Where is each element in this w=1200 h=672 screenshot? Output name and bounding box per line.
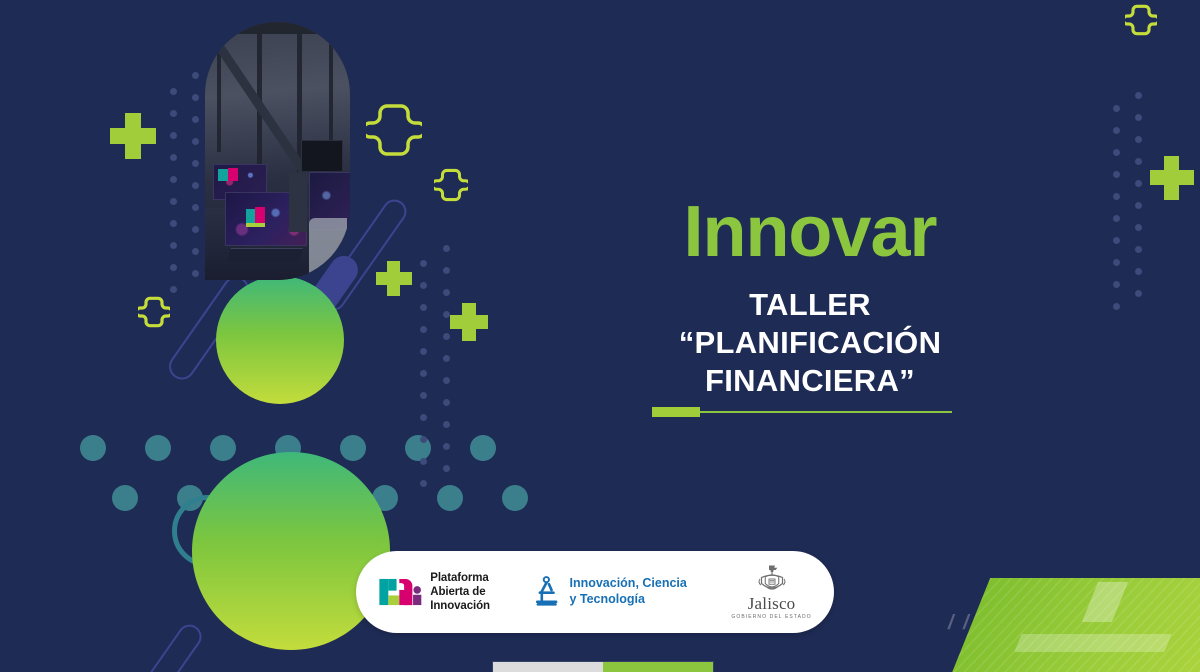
coat-of-arms-icon [755, 564, 789, 594]
corner-graphic: / / / [940, 564, 1200, 672]
slide-canvas: Innovar TALLER “PLANIFICACIÓN FINANCIERA… [0, 0, 1200, 672]
plus-icon-outline-large [366, 102, 422, 158]
page-title: Innovar [600, 196, 1020, 268]
photo-chair [309, 218, 347, 280]
corner-bar-lower [1014, 634, 1171, 652]
plus-icon-filled-center-a [376, 272, 412, 285]
photo-keyboard [227, 248, 303, 262]
icyt-logo-text: Innovación, Ciencia y Tecnología [569, 576, 686, 607]
logo-bar: Plataforma Abierta de Innovación Innovac… [356, 551, 834, 633]
dot-column-left-b [192, 72, 199, 292]
pai-logo-text: Plataforma Abierta de Innovación [430, 571, 490, 613]
page-subtitle: TALLER “PLANIFICACIÓN FINANCIERA” [600, 286, 1020, 399]
diagonal-pill-outline-c [118, 620, 206, 672]
pai-logo-icon [378, 576, 422, 608]
corner-stripes [950, 578, 1200, 672]
plus-icon-filled-center-b [450, 315, 488, 329]
plus-icon-filled-right [1150, 170, 1194, 185]
progress-segment-right [603, 662, 713, 672]
plus-icon-outline-top-right [1125, 4, 1157, 36]
photo-monitor-back [301, 140, 343, 172]
dot-column-center-b [443, 245, 450, 487]
corner-parallelogram [950, 578, 1200, 672]
subtitle-line-3: FINANCIERA” [600, 362, 1020, 400]
icyt-logo: Innovación, Ciencia y Tecnología [534, 575, 686, 609]
hero-text-block: Innovar TALLER “PLANIFICACIÓN FINANCIERA… [600, 196, 1020, 399]
jalisco-name: Jalisco [731, 595, 811, 612]
dot-column-right-b [1135, 92, 1142, 312]
hero-photo [205, 22, 350, 280]
gradient-circle-small [216, 276, 344, 404]
dot-column-center-a [420, 260, 427, 502]
dot-column-right-a [1113, 105, 1120, 325]
subtitle-line-1: TALLER [600, 286, 1020, 324]
pai-logo: Plataforma Abierta de Innovación [378, 571, 490, 613]
dot-column-left-a [170, 88, 177, 308]
photo-tower [289, 174, 307, 232]
plus-icon-filled-left [110, 128, 156, 144]
plus-icon-outline-small-left [138, 296, 170, 328]
plus-icon-outline-small-center [434, 168, 468, 202]
subtitle-line-2: “PLANIFICACIÓN [600, 324, 1020, 362]
microscope-icon [534, 575, 560, 609]
progress-bar[interactable] [493, 662, 713, 672]
jalisco-logo: Jalisco GOBIERNO DEL ESTADO [731, 564, 811, 620]
title-divider [652, 411, 952, 413]
gradient-circle-large [192, 452, 390, 650]
progress-segment-left [493, 662, 603, 672]
photo-scene [205, 22, 350, 280]
jalisco-subtitle: GOBIERNO DEL ESTADO [731, 614, 811, 620]
